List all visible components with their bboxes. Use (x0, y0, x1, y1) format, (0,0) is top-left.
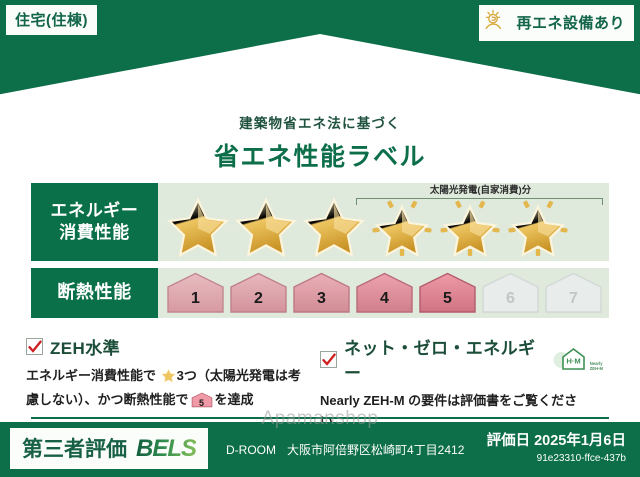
check-icon (322, 353, 336, 367)
star-icon-solar (436, 194, 504, 260)
insulation-performance-body: 1 2 (158, 268, 609, 318)
footer-divider (31, 417, 609, 419)
checkbox-zeh-standard[interactable] (26, 338, 43, 355)
insulation-grade-2-value: 2 (228, 290, 289, 308)
zeh-m-caption-line2: ZEH-M (590, 366, 603, 371)
metric-rows: エネルギー 消費性能 太陽光発電(自家消費)分 (31, 183, 609, 318)
insulation-grade-6: 6 (480, 271, 541, 315)
property-address: 大阪市阿倍野区松崎町4丁目2412 (287, 443, 464, 457)
zeh-m-house-icon: H·M Nearly ZEH-M (552, 346, 602, 372)
star-icon-solar (504, 194, 572, 260)
bels-certification-badge: 第三者評価 BELS (10, 428, 208, 469)
dwelling-type-badge: 住宅(住棟) (6, 5, 97, 35)
label-card: 建築物省エネ法に基づく 省エネ性能ラベル エネルギー 消費性能 太陽光発電(自家… (0, 96, 640, 422)
criterion-zeh-title: ZEH水準 (50, 334, 120, 359)
insulation-grade-5: 5 (417, 271, 478, 315)
insulation-grade-1: 1 (165, 271, 226, 315)
renewable-equipment-label: 再エネ設備あり (516, 12, 625, 33)
insulation-grade-5-value: 5 (417, 290, 478, 308)
evaluation-date: 評価日 2025年1月6日 (487, 429, 626, 450)
star-icon (164, 194, 232, 260)
star-icon (232, 194, 300, 260)
insulation-grade-scale: 1 2 (158, 271, 604, 315)
criterion-zeh-description: エネルギー消費性能で 3つ（太陽光発電は考慮しない）、かつ断熱性能で 5 を達成 (26, 365, 308, 410)
insulation-grade-4: 4 (354, 271, 415, 315)
page-title: 省エネ性能ラベル (0, 137, 640, 173)
title-block: 建築物省エネ法に基づく 省エネ性能ラベル (0, 96, 640, 173)
insulation-grade-3-value: 3 (291, 290, 352, 308)
insulation-performance-row: 断熱性能 1 (31, 268, 609, 318)
property-address-line: D-ROOM大阪市阿倍野区松崎町4丁目2412 (226, 441, 464, 458)
checkbox-net-zero-energy[interactable] (320, 351, 337, 368)
energy-label-line1: エネルギー (51, 200, 139, 222)
dwelling-type-label: 住宅(住棟) (15, 9, 88, 30)
insulation-grade-7-value: 7 (543, 290, 604, 308)
check-icon (28, 340, 42, 354)
roof-notch-shape (0, 34, 640, 98)
svg-text:H·M: H·M (566, 357, 580, 366)
evaluation-id: 91e23310-ffce-437b (487, 453, 626, 464)
criterion-zeh-text-part3: を達成 (215, 392, 254, 407)
star-icon-inline (161, 368, 176, 389)
footer-bar: 第三者評価 BELS D-ROOM大阪市阿倍野区松崎町4丁目2412 評価日 2… (0, 422, 640, 477)
bels-logo-text: BELS (136, 435, 196, 463)
sun-icon (485, 9, 511, 36)
criterion-zeh-inline-grade: 5 (191, 396, 213, 411)
property-name: D-ROOM (226, 443, 276, 457)
insulation-performance-label: 断熱性能 (31, 268, 158, 318)
energy-label-line2: 消費性能 (59, 222, 129, 244)
criterion-nze-header: ネット・ゼロ・エネルギー H·M Nearly ZEH-M (320, 334, 602, 384)
energy-performance-label: エネルギー 消費性能 (31, 183, 158, 261)
evaluation-info: 評価日 2025年1月6日 91e23310-ffce-437b (487, 429, 626, 464)
house-icon-inline: 5 (191, 392, 213, 408)
renewable-equipment-badge: 再エネ設備あり (479, 5, 634, 41)
insulation-grade-4-value: 4 (354, 290, 415, 308)
energy-performance-body: 太陽光発電(自家消費)分 (158, 183, 609, 261)
zeh-m-logo-caption: Nearly ZEH-M (590, 361, 603, 371)
insulation-grade-1-value: 1 (165, 290, 226, 308)
star-icon-solar (368, 194, 436, 260)
insulation-grade-3: 3 (291, 271, 352, 315)
title-subtitle: 建築物省エネ法に基づく (0, 112, 640, 132)
star-rating (158, 194, 609, 260)
insulation-grade-7: 7 (543, 271, 604, 315)
bels-jp-label: 第三者評価 (22, 433, 127, 463)
star-icon (300, 194, 368, 260)
insulation-grade-2: 2 (228, 271, 289, 315)
criterion-nze-title: ネット・ゼロ・エネルギー (344, 334, 545, 384)
criterion-zeh-text-part1: エネルギー消費性能で (26, 368, 156, 383)
insulation-grade-6-value: 6 (480, 290, 541, 308)
criterion-zeh-header: ZEH水準 (26, 334, 308, 359)
energy-performance-row: エネルギー 消費性能 太陽光発電(自家消費)分 (31, 183, 609, 261)
